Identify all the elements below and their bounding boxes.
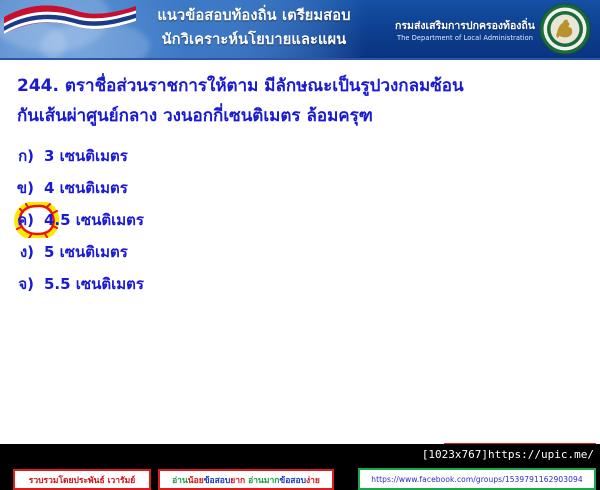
slogan-segment: ยาก xyxy=(230,476,245,486)
choice-label: จ) xyxy=(0,268,44,300)
thai-flag-icon xyxy=(2,1,138,45)
slogan-segment: ข้อสอบ xyxy=(279,476,306,486)
banner-title-line1: แนวข้อสอบท้องถิ่น เตรียมสอบ xyxy=(120,4,388,28)
choice-option-5[interactable]: จ)5.5 เซนติเมตร xyxy=(0,268,400,300)
choice-list: ก)3 เซนติเมตร ข)4 เซนติเมตร ค)4.5 เซนติเ… xyxy=(0,140,400,300)
choice-label: ค) xyxy=(0,204,44,236)
department-name-english: The Department of Local Administration xyxy=(390,33,540,43)
banner-title: แนวข้อสอบท้องถิ่น เตรียมสอบ นักวิเคราะห์… xyxy=(120,4,388,52)
department-seal-icon xyxy=(539,3,591,55)
choice-label: ง) xyxy=(0,236,44,268)
slide-page: แนวข้อสอบท้องถิ่น เตรียมสอบ นักวิเคราะห์… xyxy=(0,0,600,468)
author-credit-box: รวบรวมโดยประพันธ์ เวารัมย์ xyxy=(13,469,151,490)
slogan-segment: อ่าน xyxy=(172,476,188,486)
choice-text: 5.5 เซนติเมตร xyxy=(44,275,144,293)
slogan-box: อ่านน้อยข้อสอบยาก อ่านมากข้อสอบง่าย xyxy=(158,469,334,490)
link-box-facebook[interactable]: https://www.facebook.com/groups/15397911… xyxy=(358,468,596,490)
slogan-segment: น้อย xyxy=(188,476,204,486)
slogan-segment: อ่านมาก xyxy=(248,476,279,486)
question-line2: กันเส้นผ่าศูนย์กลาง วงนอกกี่เซนติเมตร ล้… xyxy=(17,101,583,131)
question-line1: 244. ตราชื่อส่วนราชการให้ตาม มีลักษณะเป็… xyxy=(17,71,583,101)
author-credit-text: รวบรวมโดยประพันธ์ เวารัมย์ xyxy=(29,473,135,487)
choice-text: 4.5 เซนติเมตร xyxy=(44,211,144,229)
department-name: กรมส่งเสริมการปกครองท้องถิ่น The Departm… xyxy=(390,20,540,43)
facebook-url: https://www.facebook.com/groups/15397911… xyxy=(371,475,583,484)
choice-option-4[interactable]: ง)5 เซนติเมตร xyxy=(0,236,400,268)
choice-text: 3 เซนติเมตร xyxy=(44,147,128,165)
department-name-thai: กรมส่งเสริมการปกครองท้องถิ่น xyxy=(390,20,540,33)
slide-content: 244. ตราชื่อส่วนราชการให้ตาม มีลักษณะเป็… xyxy=(0,58,600,443)
question-text: 244. ตราชื่อส่วนราชการให้ตาม มีลักษณะเป็… xyxy=(17,71,583,131)
choice-option-1[interactable]: ก)3 เซนติเมตร xyxy=(0,140,400,172)
footer-dimensions-text: [1023x767]https://upic.me/ xyxy=(422,448,594,461)
choice-label: ก) xyxy=(0,140,44,172)
choice-text: 4 เซนติเมตร xyxy=(44,179,128,197)
slogan-text: อ่านน้อยข้อสอบยาก อ่านมากข้อสอบง่าย xyxy=(172,473,320,487)
choice-option-3[interactable]: ค)4.5 เซนติเมตร xyxy=(0,204,400,236)
choice-label: ข) xyxy=(0,172,44,204)
slogan-segment: ข้อสอบ xyxy=(204,476,231,486)
slogan-segment: ง่าย xyxy=(306,476,320,486)
page-banner: แนวข้อสอบท้องถิ่น เตรียมสอบ นักวิเคราะห์… xyxy=(0,0,600,58)
banner-title-line2: นักวิเคราะห์นโยบายและแผน xyxy=(120,28,388,52)
status-footer: [1023x767]https://upic.me/ xyxy=(0,444,600,468)
choice-text: 5 เซนติเมตร xyxy=(44,243,128,261)
choice-option-2[interactable]: ข)4 เซนติเมตร xyxy=(0,172,400,204)
